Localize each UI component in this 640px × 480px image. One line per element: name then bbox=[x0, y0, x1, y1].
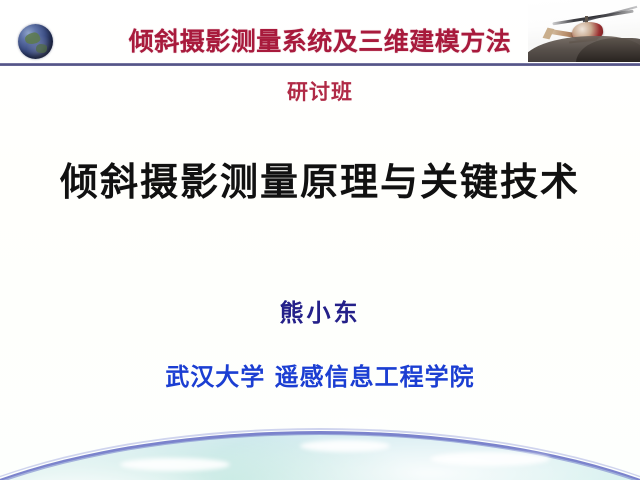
header-divider bbox=[0, 63, 640, 66]
page-title: 倾斜摄影测量原理与关键技术 bbox=[0, 157, 640, 207]
slide-header: 倾斜摄影测量系统及三维建模方法 bbox=[0, 0, 640, 66]
presentation-slide: 倾斜摄影测量系统及三维建模方法 研讨班 倾斜摄影测量原理与关键技术 熊小东 武汉… bbox=[0, 0, 640, 480]
header-title: 倾斜摄影测量系统及三维建模方法 bbox=[0, 26, 640, 58]
earth-cloud bbox=[120, 458, 230, 471]
earth-cloud bbox=[330, 418, 390, 427]
earth-cloud bbox=[300, 440, 390, 452]
helicopter-rotor-secondary-icon bbox=[583, 6, 638, 22]
earth-cloud bbox=[430, 452, 550, 466]
header-subtitle: 研讨班 bbox=[0, 78, 640, 106]
author-name: 熊小东 bbox=[0, 297, 640, 329]
affiliation-text: 武汉大学 遥感信息工程学院 bbox=[0, 361, 640, 393]
